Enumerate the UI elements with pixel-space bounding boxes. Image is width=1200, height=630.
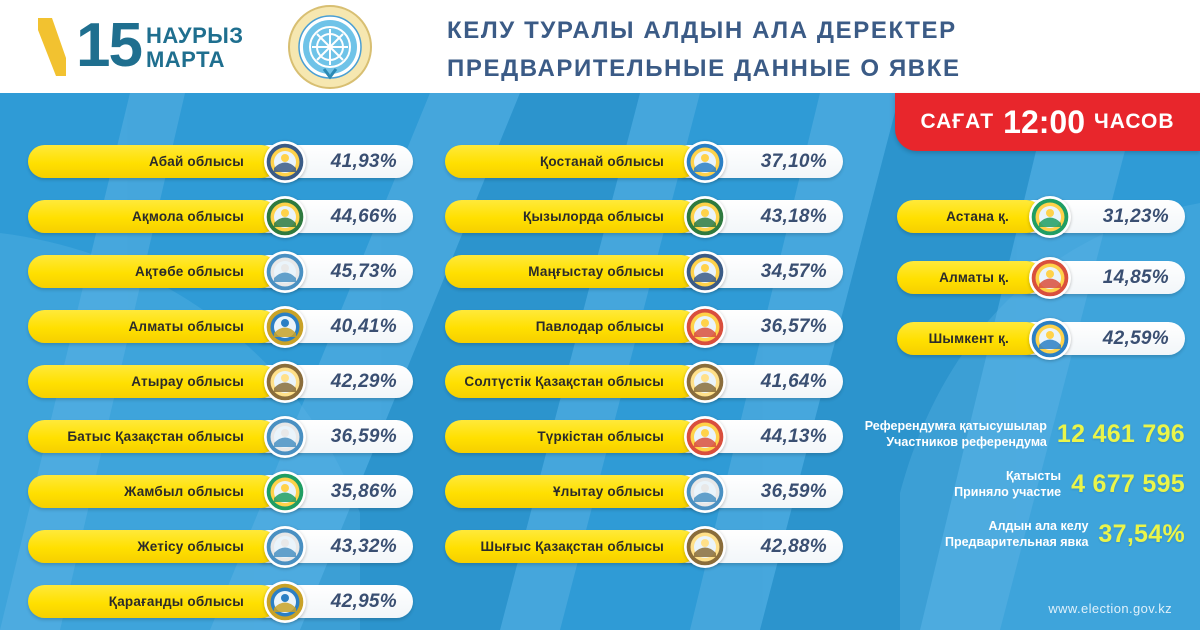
yellow-chevron-icon	[36, 16, 80, 78]
region-name-pill: Жетісу облысы	[28, 530, 278, 563]
time-banner-time: 12:00	[1003, 104, 1085, 141]
region-name-pill: Қостанай облысы	[445, 145, 698, 178]
summary-stat-label-kk: Қатысты	[954, 468, 1061, 484]
region-name-pill: Батыс Қазақстан облысы	[28, 420, 278, 453]
region-name-label: Ақмола облысы	[132, 209, 244, 224]
table-row[interactable]: Қарағанды облысы42,95%	[28, 585, 413, 618]
summary-stat-value: 12 461 796	[1057, 420, 1185, 449]
atyrau-region-emblem-icon	[264, 361, 306, 403]
date-logo: 15 НАУРЫЗ МАРТА	[36, 6, 244, 86]
regions-column-2: Қостанай облысы37,10%Қызылорда облысы43,…	[445, 145, 843, 585]
pavlodar-region-emblem-icon	[684, 306, 726, 348]
table-row[interactable]: Алматы облысы40,41%	[28, 310, 413, 343]
table-row[interactable]: Абай облысы41,93%	[28, 145, 413, 178]
kazakhstan-referendum-commission-seal-icon	[288, 5, 372, 89]
summary-stat-label-ru: Участников референдума	[865, 434, 1047, 450]
turnout-infographic: 15 НАУРЫЗ МАРТА	[0, 0, 1200, 630]
zhetisu-region-emblem-icon	[264, 526, 306, 568]
region-name-pill: Ұлытау облысы	[445, 475, 698, 508]
region-name-pill: Астана қ.	[897, 200, 1043, 233]
turnout-percent-value: 44,13%	[761, 426, 827, 448]
turnout-percent-value: 42,29%	[331, 371, 397, 393]
region-name-pill: Шымкент қ.	[897, 322, 1043, 355]
page-title-ru: ПРЕДВАРИТЕЛЬНЫЕ ДАННЫЕ О ЯВКЕ	[447, 50, 1067, 88]
region-name-pill: Солтүстік Қазақстан облысы	[445, 365, 698, 398]
region-name-pill: Қызылорда облысы	[445, 200, 698, 233]
karaganda-region-emblem-icon	[264, 581, 306, 623]
summary-stat-label-ru: Предварительная явка	[945, 534, 1088, 550]
turnout-percent-value: 43,32%	[331, 536, 397, 558]
table-row[interactable]: Қызылорда облысы43,18%	[445, 200, 843, 233]
turnout-percent-value: 40,41%	[331, 316, 397, 338]
date-month-ru: МАРТА	[146, 48, 244, 72]
turnout-percent-value: 36,59%	[331, 426, 397, 448]
cities-column-3: Астана қ.31,23%Алматы қ.14,85%Шымкент қ.…	[897, 200, 1185, 383]
turnout-percent-value: 34,57%	[761, 261, 827, 283]
summary-stat-labels: ҚатыстыПриняло участие	[954, 468, 1061, 500]
table-row[interactable]: Маңғыстау облысы34,57%	[445, 255, 843, 288]
region-name-pill: Алматы облысы	[28, 310, 278, 343]
region-name-pill: Қарағанды облысы	[28, 585, 278, 618]
region-name-label: Павлодар облысы	[536, 319, 664, 334]
region-name-label: Жетісу облысы	[137, 539, 244, 554]
region-name-label: Түркістан облысы	[537, 429, 664, 444]
region-name-label: Қарағанды облысы	[109, 594, 244, 609]
table-row[interactable]: Ақтөбе облысы45,73%	[28, 255, 413, 288]
region-name-label: Атырау облысы	[131, 374, 244, 389]
summary-stat-label-ru: Приняло участие	[954, 484, 1061, 500]
turnout-percent-value: 41,64%	[761, 371, 827, 393]
zhambyl-region-emblem-icon	[264, 471, 306, 513]
table-row[interactable]: Павлодар облысы36,57%	[445, 310, 843, 343]
region-name-pill: Шығыс Қазақстан облысы	[445, 530, 698, 563]
footer-website-url[interactable]: www.election.gov.kz	[1048, 601, 1172, 616]
shymkent-city-emblem-icon	[1029, 318, 1071, 360]
north-kazakhstan-region-emblem-icon	[684, 361, 726, 403]
summary-stat-label-kk: Референдумға қатысушылар	[865, 418, 1047, 434]
table-row[interactable]: Шығыс Қазақстан облысы42,88%	[445, 530, 843, 563]
summary-stat-item: ҚатыстыПриняло участие4 677 595	[855, 468, 1185, 500]
region-name-label: Алматы қ.	[939, 270, 1009, 285]
astana-city-emblem-icon	[1029, 196, 1071, 238]
table-row[interactable]: Шымкент қ.42,59%	[897, 322, 1185, 355]
region-name-pill: Ақтөбе облысы	[28, 255, 278, 288]
region-name-pill: Маңғыстау облысы	[445, 255, 698, 288]
region-name-pill: Түркістан облысы	[445, 420, 698, 453]
mangystau-region-emblem-icon	[684, 251, 726, 293]
table-row[interactable]: Ақмола облысы44,66%	[28, 200, 413, 233]
kostanay-region-emblem-icon	[684, 141, 726, 183]
aqtobe-region-emblem-icon	[264, 251, 306, 293]
almaty-city-emblem-icon	[1029, 257, 1071, 299]
region-name-label: Қостанай облысы	[540, 154, 664, 169]
summary-stat-labels: Референдумға қатысушыларУчастников рефер…	[865, 418, 1047, 450]
turnout-percent-value: 42,95%	[331, 591, 397, 613]
region-name-pill: Жамбыл облысы	[28, 475, 278, 508]
table-row[interactable]: Түркістан облысы44,13%	[445, 420, 843, 453]
turkistan-region-emblem-icon	[684, 416, 726, 458]
region-name-label: Шымкент қ.	[929, 331, 1009, 346]
summary-statistics: Референдумға қатысушыларУчастников рефер…	[855, 418, 1185, 568]
turnout-percent-value: 14,85%	[1103, 267, 1169, 289]
table-row[interactable]: Алматы қ.14,85%	[897, 261, 1185, 294]
table-row[interactable]: Жамбыл облысы35,86%	[28, 475, 413, 508]
region-name-pill: Абай облысы	[28, 145, 278, 178]
turnout-percent-value: 37,10%	[761, 151, 827, 173]
table-row[interactable]: Атырау облысы42,29%	[28, 365, 413, 398]
time-banner-label-ru: ЧАСОВ	[1094, 110, 1175, 134]
date-month-names: НАУРЫЗ МАРТА	[146, 24, 244, 72]
turnout-percent-value: 36,59%	[761, 481, 827, 503]
table-row[interactable]: Астана қ.31,23%	[897, 200, 1185, 233]
date-number: 15	[76, 14, 141, 78]
region-name-label: Маңғыстау облысы	[528, 264, 664, 279]
page-title: КЕЛУ ТУРАЛЫ АЛДЫН АЛА ДЕРЕКТЕР ПРЕДВАРИТ…	[447, 12, 1067, 88]
table-row[interactable]: Ұлытау облысы36,59%	[445, 475, 843, 508]
turnout-percent-value: 44,66%	[331, 206, 397, 228]
region-name-label: Астана қ.	[946, 209, 1009, 224]
region-name-pill: Алматы қ.	[897, 261, 1043, 294]
table-row[interactable]: Солтүстік Қазақстан облысы41,64%	[445, 365, 843, 398]
east-kazakhstan-region-emblem-icon	[684, 526, 726, 568]
region-name-label: Алматы облысы	[128, 319, 244, 334]
turnout-percent-value: 41,93%	[331, 151, 397, 173]
almaty-region-emblem-icon	[264, 306, 306, 348]
turnout-percent-value: 31,23%	[1103, 206, 1169, 228]
regions-column-1: Абай облысы41,93%Ақмола облысы44,66%Ақтө…	[28, 145, 413, 630]
west-kazakhstan-region-emblem-icon	[264, 416, 306, 458]
turnout-percent-value: 36,57%	[761, 316, 827, 338]
region-name-label: Солтүстік Қазақстан облысы	[464, 374, 664, 389]
summary-stat-label-kk: Алдын ала келу	[945, 518, 1088, 534]
turnout-percent-value: 42,59%	[1103, 328, 1169, 350]
date-month-kk: НАУРЫЗ	[146, 24, 244, 48]
turnout-percent-value: 45,73%	[331, 261, 397, 283]
region-name-pill: Павлодар облысы	[445, 310, 698, 343]
region-name-label: Шығыс Қазақстан облысы	[480, 539, 664, 554]
summary-stat-item: Референдумға қатысушыларУчастников рефер…	[855, 418, 1185, 450]
summary-stat-item: Алдын ала келуПредварительная явка37,54%	[855, 518, 1185, 550]
time-banner-label-kk: САҒАТ	[920, 110, 994, 134]
table-row[interactable]: Батыс Қазақстан облысы36,59%	[28, 420, 413, 453]
region-name-label: Батыс Қазақстан облысы	[67, 429, 244, 444]
region-name-pill: Ақмола облысы	[28, 200, 278, 233]
turnout-percent-value: 35,86%	[331, 481, 397, 503]
region-name-label: Жамбыл облысы	[124, 484, 244, 499]
summary-stat-value: 37,54%	[1098, 520, 1185, 549]
table-row[interactable]: Қостанай облысы37,10%	[445, 145, 843, 178]
summary-stat-labels: Алдын ала келуПредварительная явка	[945, 518, 1088, 550]
region-name-label: Ұлытау облысы	[553, 484, 664, 499]
region-name-pill: Атырау облысы	[28, 365, 278, 398]
region-name-label: Абай облысы	[149, 154, 244, 169]
time-banner: САҒАТ 12:00 ЧАСОВ	[895, 93, 1200, 151]
table-row[interactable]: Жетісу облысы43,32%	[28, 530, 413, 563]
region-name-label: Ақтөбе облысы	[135, 264, 244, 279]
abai-region-emblem-icon	[264, 141, 306, 183]
page-title-kk: КЕЛУ ТУРАЛЫ АЛДЫН АЛА ДЕРЕКТЕР	[447, 12, 1067, 50]
region-name-label: Қызылорда облысы	[523, 209, 664, 224]
ulytau-region-emblem-icon	[684, 471, 726, 513]
turnout-percent-value: 43,18%	[761, 206, 827, 228]
kyzylorda-region-emblem-icon	[684, 196, 726, 238]
summary-stat-value: 4 677 595	[1071, 470, 1185, 499]
page-header: 15 НАУРЫЗ МАРТА	[0, 0, 1200, 93]
aqmola-region-emblem-icon	[264, 196, 306, 238]
turnout-percent-value: 42,88%	[761, 536, 827, 558]
